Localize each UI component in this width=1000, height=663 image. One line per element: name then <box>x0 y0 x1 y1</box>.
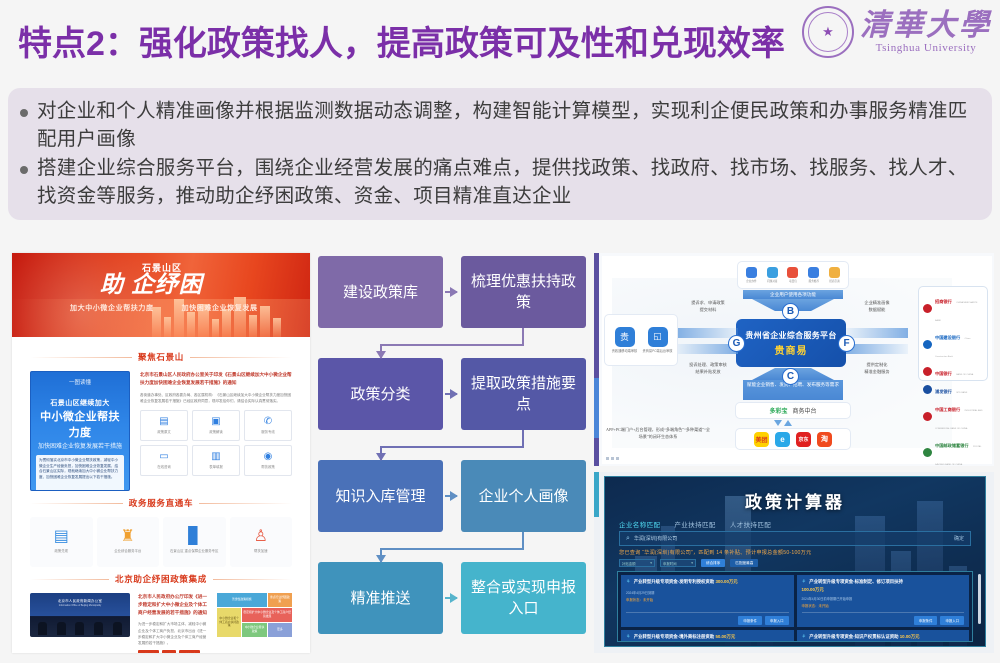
bank-name: 中国银行 <box>935 371 952 376</box>
section-heading: 北京助企纾困政策集成 <box>30 573 292 585</box>
quick-link-cell[interactable]: ▣ 政策解读 <box>192 410 240 441</box>
service-cell[interactable]: ♙ 帮扶加速 <box>230 517 293 567</box>
bullet-dot-icon <box>20 166 28 174</box>
poster-body-text: 为贯彻落实北京市中小微企业帮扶政策，减轻中小微企业生产经营负担，加快困难企业恢复… <box>36 455 124 491</box>
banner-building <box>273 318 281 337</box>
tsinghua-logo: 清華大學 Tsinghua University <box>802 6 992 58</box>
guizhengtong-app-icon: 贵 <box>615 327 635 347</box>
app-item[interactable]: ◱ 贵商易PC端后台审核 <box>643 327 673 354</box>
apply-conditions-button[interactable]: 申报条件 <box>914 616 938 625</box>
flow-box-5[interactable]: 知识入库管理 <box>318 460 443 532</box>
apply-conditions-button[interactable]: 申报条件 <box>738 616 762 625</box>
note-icon: ▣ <box>211 417 220 427</box>
apply-entry-button[interactable]: 申报入口 <box>940 616 964 625</box>
divider-line <box>190 357 292 358</box>
app-label: 贵商易PC端后台审核 <box>643 349 673 354</box>
divider-line <box>199 503 292 504</box>
flow-arrow-right-2 <box>445 393 457 395</box>
quick-link-cell[interactable]: ✆ 服务专线 <box>244 410 292 441</box>
policy-flowchart: 建设政策库 梳理优惠扶持政策 政策分类 提取政策措施要点 知识入库管理 企业个人… <box>318 256 586 652</box>
bank-name-en: SPD BANK <box>956 392 967 394</box>
dcb-middle-platform-card[interactable]: 多彩宝 商务中台 <box>735 402 851 419</box>
photo-title: 北京市人民政府新闻办公室 <box>30 598 130 603</box>
flow-box-1[interactable]: 建设政策库 <box>318 256 443 328</box>
function-icon-label: 问题对接 <box>767 279 777 283</box>
platform-title: 贵州省企业综合服务平台 <box>745 330 836 341</box>
service-label: 企业综合服务平台 <box>114 549 141 554</box>
bottom-row: 北京市人民政府新闻办公室 Information Office of Beiji… <box>30 593 292 653</box>
page-title: 特点2：强化政策找人，提高政策可及性和兑现效率 <box>18 16 785 65</box>
article-row: 一图读懂 石景山区继续加大 中小微企业帮扶力度 加快困难企业恢复发展若干措施 为… <box>30 371 292 491</box>
flow-connector-2 <box>380 430 524 460</box>
meituan-icon[interactable]: 美团 <box>754 432 769 447</box>
confirm-button[interactable]: 确定 <box>954 535 964 542</box>
banner-subtitles: 加大中小微企业帮扶力度 加快困难企业恢复发展 <box>70 303 258 313</box>
bank-logo-panel: 招商银行 CHINA MERCHANTS BANK 中国建设银行 China C… <box>918 286 988 381</box>
function-icon-item[interactable]: 企业办件 <box>746 267 757 283</box>
service-label: 政策兑现 <box>54 549 68 554</box>
bank-name-en: BANK OF CHINA <box>956 374 973 376</box>
quick-link-cell[interactable]: ▤ 政策原文 <box>140 410 188 441</box>
guishangyi-app-icon: ◱ <box>648 327 668 347</box>
left-bottom-label: 投诉处理、政策审核 结果补贴发放 <box>678 362 738 375</box>
article-body: 各街道办事处、区政府各委办局、各区属机构：《石景山区继续加大中小微企业帮扶力度加… <box>140 392 292 404</box>
filter-select-time[interactable]: 申报时间▾ <box>660 559 696 567</box>
service-label: 帮扶加速 <box>254 549 268 554</box>
subsidy-card[interactable]: ⚘ 产业转型升级专项资金-标准制定、修订项目扶持 100.00万元 2024年4… <box>797 575 970 627</box>
taobao-icon[interactable]: 淘 <box>817 432 832 447</box>
left-arrow-out <box>676 328 738 338</box>
person-silhouette <box>94 622 103 635</box>
flow-box-7[interactable]: 精准推送 <box>318 562 443 634</box>
divider-line <box>802 612 965 613</box>
bank-name: 中国邮政储蓄银行 <box>935 443 969 448</box>
webpage-screenshot-panel: 石景山区 助 企纾困 加大中小微企业帮扶力度 加快困难企业恢复发展 聚焦石景山 … <box>12 253 310 653</box>
apply-entry-button[interactable]: 申报入口 <box>765 616 789 625</box>
boc-logo-icon <box>923 367 932 376</box>
bank-name: 招商银行 <box>935 299 952 304</box>
icbc-logo-icon <box>923 412 932 421</box>
right-top-label: 企业精准画像 数据赋能 <box>848 300 906 313</box>
card-title-row: ⚘ 产业转型升级专项资金-知识产权贯标认证资助 10.00万元 <box>802 634 965 642</box>
subsidy-card[interactable]: ⚘ 产业转型升级专项资金-境外商标注册资助 50.00万元 <box>621 630 794 642</box>
divider-line <box>30 579 109 580</box>
webpage-banner: 石景山区 助 企纾困 加大中小微企业帮扶力度 加快困难企业恢复发展 <box>12 253 310 337</box>
divider-line <box>626 612 789 613</box>
divider-line <box>213 579 292 580</box>
quick-link-label: 政策原文 <box>157 429 171 434</box>
banner-building <box>164 317 171 337</box>
section-title: 聚焦石景山 <box>138 351 184 363</box>
search-icon: ⌕ <box>626 535 630 543</box>
flow-connector-3 <box>380 532 524 562</box>
quick-link-cell[interactable]: ▭ 在线咨询 <box>140 445 188 476</box>
bottom-article-column: 北京市人民政府办公厅印发《进一步稳定和扩大中小微企业及个体工商户经营发展的若干措… <box>138 593 209 653</box>
dot <box>606 457 609 460</box>
service-label: 石景山区 重点保障企业服务专区 <box>170 549 218 554</box>
ecommerce-card: 美团 e 京东 淘 <box>735 428 851 450</box>
pagination-dots[interactable] <box>606 457 619 460</box>
cmb-logo-icon <box>923 304 932 313</box>
person-silhouette <box>38 622 47 635</box>
logo-english-name: Tsinghua University <box>876 42 977 54</box>
service-cell[interactable]: ▊ 石景山区 重点保障企业服务专区 <box>163 517 226 567</box>
bullet-text: 对企业和个人精准画像并根据监测数据动态调整，构建智能计算模型，实现利企便民政策和… <box>37 98 976 153</box>
card-amount: 300.00万元 <box>715 579 737 584</box>
card-deadline: 2024年4月30日前申报期已开始申报 <box>802 596 965 601</box>
arrow-up-icon <box>784 420 792 426</box>
function-icon-label: 服务推荐 <box>809 279 819 283</box>
top-band-label: 企业用户使用各项功能 <box>743 290 843 299</box>
psbc-logo-icon <box>923 448 932 457</box>
calculator-title: 政策计算器 <box>605 488 985 513</box>
filter-select-amount[interactable]: 补贴金额▾ <box>619 559 655 567</box>
bank-name: 中国建设银行 <box>935 335 960 340</box>
flow-arrow-right-1 <box>445 291 457 293</box>
section-title: 北京助企纾困政策集成 <box>115 573 207 585</box>
accent-stripe-secondary <box>594 378 599 438</box>
bank-item: 浦发银行 SPD BANK <box>923 380 983 398</box>
press-conference-photo[interactable]: 北京市人民政府新闻办公室 Information Office of Beiji… <box>30 593 130 637</box>
chevron-down-icon: ▾ <box>691 561 693 565</box>
banner-sub-left: 加大中小微企业帮扶力度 <box>70 303 154 313</box>
bank-item: 中国工商银行 INDUSTRIAL AND COMMERCIAL BANK OF… <box>923 398 983 434</box>
dot <box>611 457 614 460</box>
right-arrow-in <box>846 344 908 354</box>
search-input-value[interactable]: 华润(深圳)有限公司 <box>634 535 950 542</box>
article-title[interactable]: 北京市石景山区人民政府办公室关于印发《石景山区继续加大中小微企业帮扶力度加快困难… <box>140 371 292 387</box>
quick-link-cell[interactable]: ▥ 表单填报 <box>192 445 240 476</box>
logo-text-block: 清華大學 Tsinghua University <box>860 10 992 54</box>
bank-name-en: POSTAL SAVINGS BANK OF CHINA <box>935 446 981 466</box>
flow-box-6[interactable]: 企业个人画像 <box>461 460 586 532</box>
platform-subtitle: 贵商易 <box>775 342 808 357</box>
bottom-article-title[interactable]: 北京市人民政府办公厅印发《进一步稳定和扩大中小微企业及个体工商户经营发展的若干措… <box>138 593 209 616</box>
banner-building <box>260 306 270 337</box>
card-title: 产业转型升级专项资金-标准制定、修订项目扶持 <box>809 579 903 584</box>
calculator-canvas: 政策计算器 企业名称匹配 产业扶持匹配 人才扶持匹配 ⌕ 华润(深圳)有限公司 … <box>604 476 986 647</box>
banner-building <box>187 312 195 337</box>
bullet-card: 对企业和个人精准画像并根据监测数据动态调整，构建智能计算模型，实现利企便民政策和… <box>8 88 992 220</box>
document-icon: ▤ <box>159 417 168 427</box>
accent-stripe <box>594 472 599 517</box>
function-icon-item[interactable]: 项目包 <box>787 267 798 283</box>
policy-tile[interactable]: 重点行业纾困政策 <box>268 593 292 607</box>
chevron-down-icon: ▾ <box>650 561 652 565</box>
banner-building <box>212 319 219 337</box>
function-icon-item[interactable]: 问题对接 <box>767 267 778 283</box>
function-icon-label: 企业办件 <box>746 279 756 283</box>
duocaibao-logo-icon: 多彩宝 <box>769 406 787 415</box>
section-title: 政务服务直通车 <box>129 497 193 509</box>
bank-name-en: China Construction Bank <box>935 338 970 358</box>
spdb-logo-icon <box>923 385 932 394</box>
guizhou-platform-diagram: 企业办件 问题对接 项目包 服务推荐 <box>594 253 994 466</box>
right-bottom-label: 提供定制化 精准金融服务 <box>848 362 906 375</box>
banner-title: 石景山区 助 企纾困 <box>100 261 203 297</box>
photo-people-row <box>34 622 126 635</box>
function-icon-label: 项目包 <box>789 279 797 283</box>
tag-chip[interactable]: 政策原文 <box>138 650 159 653</box>
badge-g: G <box>728 335 745 352</box>
card-status: 申报状态：未开始 <box>626 597 789 602</box>
bank-item: 中国邮政储蓄银行 POSTAL SAVINGS BANK OF CHINA <box>923 434 983 466</box>
photo-subtitle: Information Office of Beijing Municipali… <box>30 604 130 607</box>
banner-building <box>222 309 231 337</box>
tag-chip[interactable]: 图解 <box>162 650 176 653</box>
banner-sub-right: 加快困难企业恢复发展 <box>182 303 258 313</box>
quick-link-label: 在线咨询 <box>157 464 171 469</box>
banner-building <box>249 315 257 337</box>
document-icon <box>746 267 757 278</box>
slide-root: 特点2：强化政策找人，提高政策可及性和兑现效率 清華大學 Tsinghua Un… <box>0 0 1000 663</box>
service-cell[interactable]: ♜ 企业综合服务平台 <box>97 517 160 567</box>
function-icon-label: 招商引资 <box>829 279 839 283</box>
university-seal-icon <box>802 6 854 58</box>
cash-icon: ▤ <box>54 529 69 545</box>
card-title-row: ⚘ 产业转型升级专项资金-发明专利授权资助 300.00万元 <box>626 579 789 587</box>
diagram-canvas: 企业办件 问题对接 项目包 服务推荐 <box>602 256 992 464</box>
shield-icon: ◉ <box>264 452 273 462</box>
card-title: 产业转型升级专项资金-发明专利授权资助 <box>634 579 715 584</box>
divider-line <box>30 503 123 504</box>
app-label: 贵政通移动端审核 <box>612 349 638 354</box>
card-status: 申报状态：未开始 <box>802 603 965 608</box>
subsidy-icon: ⚘ <box>626 579 630 585</box>
bottom-article-body: 为进一步稳定和扩大市场主体，减轻中小微企业及个体工商户负担，北京市出台《进一步稳… <box>138 621 209 645</box>
bank-item: 中国建设银行 China Construction Bank <box>923 326 983 362</box>
phone-icon: ✆ <box>264 417 272 427</box>
quick-link-label: 表单填报 <box>209 464 223 469</box>
policy-tile-grid: 普惠性政策措施 重点行业纾困政策 中小微企业和个体工商户扶持政策 稳定和扩大中小… <box>217 593 292 637</box>
poster-line2: 石景山区继续加大 <box>36 398 124 408</box>
card-deadline: 2024年4月29日到期 <box>626 590 789 595</box>
issue-icon <box>767 267 778 278</box>
content-area: 石景山区 助 企纾困 加大中小微企业帮扶力度 加快困难企业恢复发展 聚焦石景山 … <box>8 250 992 656</box>
bank-name-en: CHINA MERCHANTS BANK <box>935 302 977 322</box>
bullet-item: 搭建企业综合服务平台，围绕企业经营发展的痛点难点，提供找政策、找政府、找市场、找… <box>20 155 976 210</box>
policy-tile[interactable]: 稳定和扩大中小微企业及个体工商户经营发展 <box>242 608 292 622</box>
function-icon-item[interactable]: 招商引资 <box>829 267 840 283</box>
slide-header: 特点2：强化政策找人，提高政策可及性和兑现效率 清華大學 Tsinghua Un… <box>0 0 1000 82</box>
logo-chinese-name: 清華大學 <box>860 10 992 42</box>
package-icon <box>787 267 798 278</box>
quick-link-label: 政策解读 <box>209 429 223 434</box>
service-cell[interactable]: ▤ 政策兑现 <box>30 517 93 567</box>
app-item[interactable]: 贵 贵政通移动端审核 <box>610 327 640 354</box>
article-column: 北京市石景山区人民政府办公室关于印发《石景山区继续加大中小微企业帮扶力度加快困难… <box>140 371 292 491</box>
right-arrow-out <box>846 328 908 338</box>
quick-link-label: 帮扶政策 <box>261 464 275 469</box>
app-entry-card: 贵 贵政通移动端审核 ◱ 贵商易PC端后台审核 <box>604 314 678 366</box>
flow-box-4[interactable]: 提取政策措施要点 <box>461 358 586 430</box>
bank-name: 中国工商银行 <box>935 407 960 412</box>
poster-line1: 一图读懂 <box>36 378 124 386</box>
subsidy-card[interactable]: ⚘ 产业转型升级专项资金-发明专利授权资助 300.00万元 2024年4月29… <box>621 575 794 627</box>
flow-box-8[interactable]: 整合或实现申报入口 <box>461 562 586 634</box>
badge-c: C <box>782 368 799 385</box>
top-function-card: 企业办件 问题对接 项目包 服务推荐 <box>737 261 849 289</box>
banner-main-label: 助 企纾困 <box>100 273 203 297</box>
policy-poster[interactable]: 一图读懂 石景山区继续加大 中小微企业帮扶力度 加快困难企业恢复发展若干措施 为… <box>30 371 130 491</box>
policy-tile[interactable]: 中小微企业和个体工商户扶持政策 <box>217 608 241 637</box>
subsidy-icon: ⚘ <box>626 634 630 640</box>
flow-connector-1 <box>380 328 524 358</box>
badge-b: B <box>782 303 799 320</box>
card-amount: 50.00万元 <box>715 634 735 639</box>
ccb-logo-icon <box>923 340 932 349</box>
bullet-text: 搭建企业综合服务平台，围绕企业经营发展的痛点难点，提供找政策、找政府、找市场、找… <box>37 155 976 210</box>
subsidy-icon: ⚘ <box>802 634 806 640</box>
quick-link-label: 服务专线 <box>261 429 275 434</box>
card-title: 产业转型升级专项资金-知识产权贯标认证资助 <box>809 634 898 639</box>
left-top-label: 提诉求、申请政策 提交材料 <box>678 300 738 313</box>
trophy-icon: ♜ <box>121 529 135 545</box>
section-heading: 聚焦石景山 <box>30 351 292 363</box>
investment-icon <box>829 267 840 278</box>
subsidy-card[interactable]: ⚘ 产业转型升级专项资金-知识产权贯标认证资助 10.00万元 <box>797 630 970 642</box>
flow-arrow-right-4 <box>445 597 457 599</box>
card-title: 产业转型升级专项资金-境外商标注册资助 <box>634 634 715 639</box>
service-icon <box>808 267 819 278</box>
result-summary-text: 您已查询 “华润(深圳)有限公司”，匹配到 14 条补贴、预计申报总金额50-1… <box>619 549 811 556</box>
bank-name-en: INDUSTRIAL AND COMMERCIAL BANK OF CHINA <box>935 410 983 430</box>
filter-button-best-match[interactable]: 匹配度最高 <box>730 559 758 567</box>
card-title-row: ⚘ 产业转型升级专项资金-境外商标注册资助 50.00万元 <box>626 634 789 642</box>
bank-item: 中国银行 BANK OF CHINA <box>923 362 983 380</box>
card-amount: 10.00万元 <box>900 634 920 639</box>
dot <box>616 457 619 460</box>
policy-tile[interactable]: 普惠性政策措施 <box>217 593 267 607</box>
card-amount: 100.00万元 <box>802 587 965 593</box>
quick-link-grid: ▤ 政策原文 ▣ 政策解读 ✆ 服务专线 <box>140 410 292 476</box>
person-silhouette <box>57 622 66 635</box>
poster-line3: 中小微企业帮扶力度 <box>36 408 124 440</box>
filter-row: 补贴金额▾ 申报时间▾ 综合排序 匹配度最高 <box>619 559 758 567</box>
subsidy-card-list: ⚘ 产业转型升级专项资金-发明专利授权资助 300.00万元 2024年4月29… <box>617 571 973 642</box>
updown-arrows <box>774 420 792 426</box>
rocket-icon: ♙ <box>254 529 268 545</box>
bullet-dot-icon <box>20 109 28 117</box>
jingdong-daojia-icon[interactable]: e <box>775 432 790 447</box>
building-icon: ▊ <box>188 529 200 545</box>
platform-center-box[interactable]: 贵州省企业综合服务平台 贵商易 <box>736 319 846 367</box>
jingdong-icon[interactable]: 京东 <box>796 432 811 447</box>
flow-box-3[interactable]: 政策分类 <box>318 358 443 430</box>
search-bar[interactable]: ⌕ 华润(深圳)有限公司 确定 <box>619 531 971 546</box>
card-title-row: ⚘ 产业转型升级专项资金-标准制定、修订项目扶持 <box>802 579 965 587</box>
badge-f: F <box>838 335 855 352</box>
chat-icon: ▭ <box>159 452 168 462</box>
vertical-scrollbar[interactable] <box>978 574 981 624</box>
tag-row: 政策原文 图解 政策解读 <box>138 650 209 653</box>
form-icon: ▥ <box>211 452 220 462</box>
arrow-down-icon <box>774 420 782 426</box>
filter-button-comprehensive[interactable]: 综合排序 <box>701 559 725 567</box>
flow-box-2[interactable]: 梳理优惠扶持政策 <box>461 256 586 328</box>
bank-name: 浦发银行 <box>935 389 952 394</box>
person-silhouette <box>113 622 122 635</box>
person-silhouette <box>75 622 84 635</box>
card-buttons: 申报条件 申报入口 <box>914 616 964 625</box>
policy-tile[interactable]: 中小微企业帮扶政策 <box>242 623 266 637</box>
policy-calculator-screenshot: 政策计算器 企业名称匹配 产业扶持匹配 人才扶持匹配 ⌕ 华润(深圳)有限公司 … <box>594 472 994 653</box>
flow-arrow-right-3 <box>445 495 457 497</box>
service-grid: ▤ 政策兑现 ♜ 企业综合服务平台 ▊ 石景山区 重点保障企业服务专区 ♙ 帮扶… <box>30 517 292 567</box>
middle-platform-label: 商务中台 <box>793 406 817 415</box>
quick-link-cell[interactable]: ◉ 帮扶政策 <box>244 445 292 476</box>
section-heading: 政务服务直通车 <box>30 497 292 509</box>
diagram-note: APP+PC端门户+后台管理，形成“多端角色”“多种渠道”“全场景”的闭环生态体… <box>604 426 712 440</box>
function-icon-item[interactable]: 服务推荐 <box>808 267 819 283</box>
tag-chip[interactable]: 政策解读 <box>179 650 200 653</box>
poster-line4: 加快困难企业恢复发展若干措施 <box>36 441 124 450</box>
webpage-body: 聚焦石景山 一图读懂 石景山区继续加大 中小微企业帮扶力度 加快困难企业恢复发展… <box>12 337 310 653</box>
bullet-item: 对企业和个人精准画像并根据监测数据动态调整，构建智能计算模型，实现利企便民政策和… <box>20 98 976 153</box>
bank-item: 招商银行 CHINA MERCHANTS BANK <box>923 290 983 326</box>
policy-tile[interactable]: 更多 <box>268 623 292 637</box>
divider-line <box>30 357 132 358</box>
subsidy-icon: ⚘ <box>802 579 806 585</box>
card-buttons: 申报条件 申报入口 <box>738 616 788 625</box>
